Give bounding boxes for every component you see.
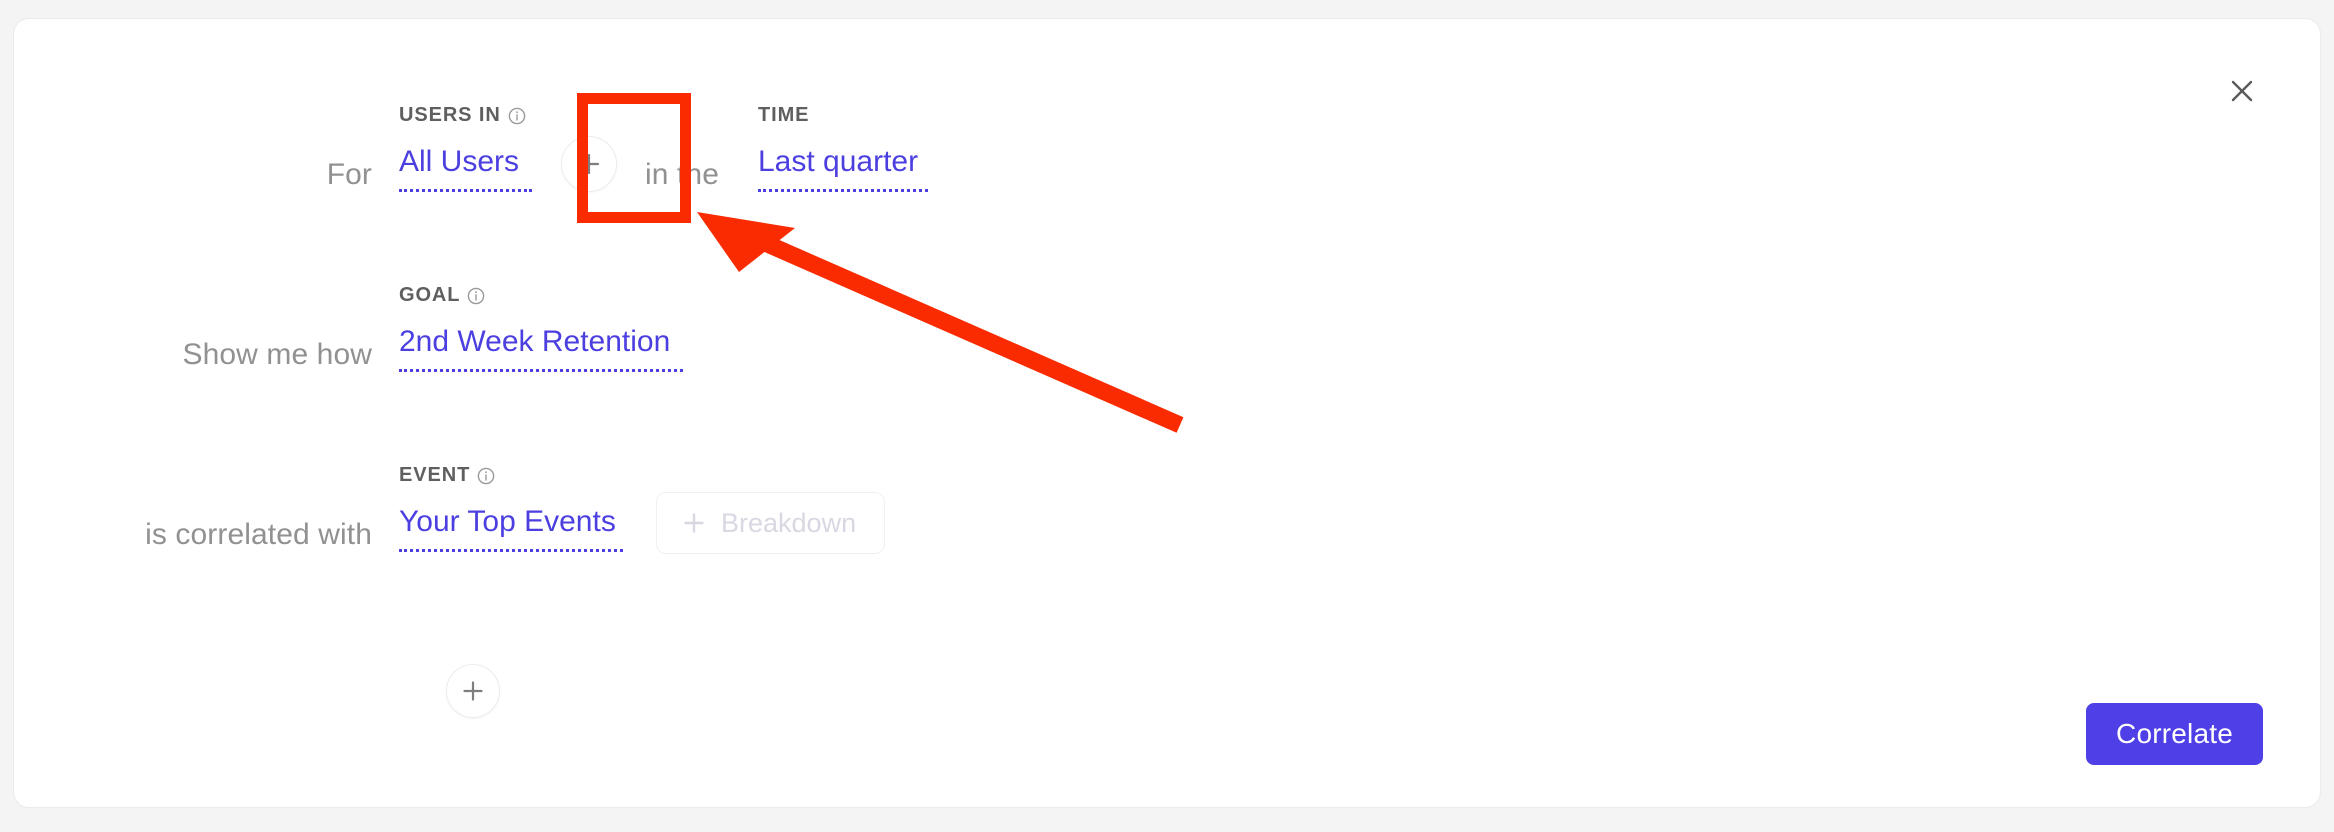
event-value[interactable]: Your Top Events: [399, 504, 623, 552]
query-row-users: For USERS IN All Users: [14, 132, 928, 196]
goal-label: GOAL: [399, 284, 485, 307]
users-in-field: USERS IN All Users: [399, 144, 532, 196]
correlation-query-card: For USERS IN All Users: [13, 18, 2321, 808]
users-in-value[interactable]: All Users: [399, 144, 532, 192]
users-in-label-text: USERS IN: [399, 104, 501, 127]
row-prefix-for: For: [14, 158, 399, 196]
info-icon[interactable]: [467, 287, 485, 305]
plus-icon[interactable]: [446, 664, 500, 718]
time-label-text: TIME: [758, 104, 809, 127]
event-field: EVENT Your Top Events: [399, 504, 623, 556]
row-prefix-show-me-how: Show me how: [14, 338, 399, 376]
add-breakdown-button[interactable]: Breakdown: [656, 492, 885, 554]
add-breakdown-label: Breakdown: [721, 508, 856, 539]
close-icon[interactable]: [2220, 69, 2264, 113]
time-value[interactable]: Last quarter: [758, 144, 928, 192]
goal-label-text: GOAL: [399, 284, 460, 307]
goal-value[interactable]: 2nd Week Retention: [399, 324, 683, 372]
info-icon[interactable]: [508, 107, 526, 125]
time-label: TIME: [758, 104, 809, 127]
event-label-text: EVENT: [399, 464, 470, 487]
plus-icon: [681, 510, 707, 536]
annotation-highlight-box: [577, 93, 691, 223]
correlate-button[interactable]: Correlate: [2086, 703, 2263, 765]
users-in-label: USERS IN: [399, 104, 526, 127]
info-icon[interactable]: [477, 467, 495, 485]
screen-root: For USERS IN All Users: [0, 0, 2334, 832]
goal-field: GOAL 2nd Week Retention: [399, 324, 683, 376]
add-clause-button[interactable]: [446, 664, 500, 718]
event-label: EVENT: [399, 464, 495, 487]
row-prefix-is-correlated-with: is correlated with: [14, 518, 399, 556]
query-row-event: is correlated with EVENT Your Top Event: [14, 492, 885, 556]
query-row-goal: Show me how GOAL 2nd Week Retention: [14, 312, 683, 376]
time-field: TIME Last quarter: [758, 144, 928, 196]
